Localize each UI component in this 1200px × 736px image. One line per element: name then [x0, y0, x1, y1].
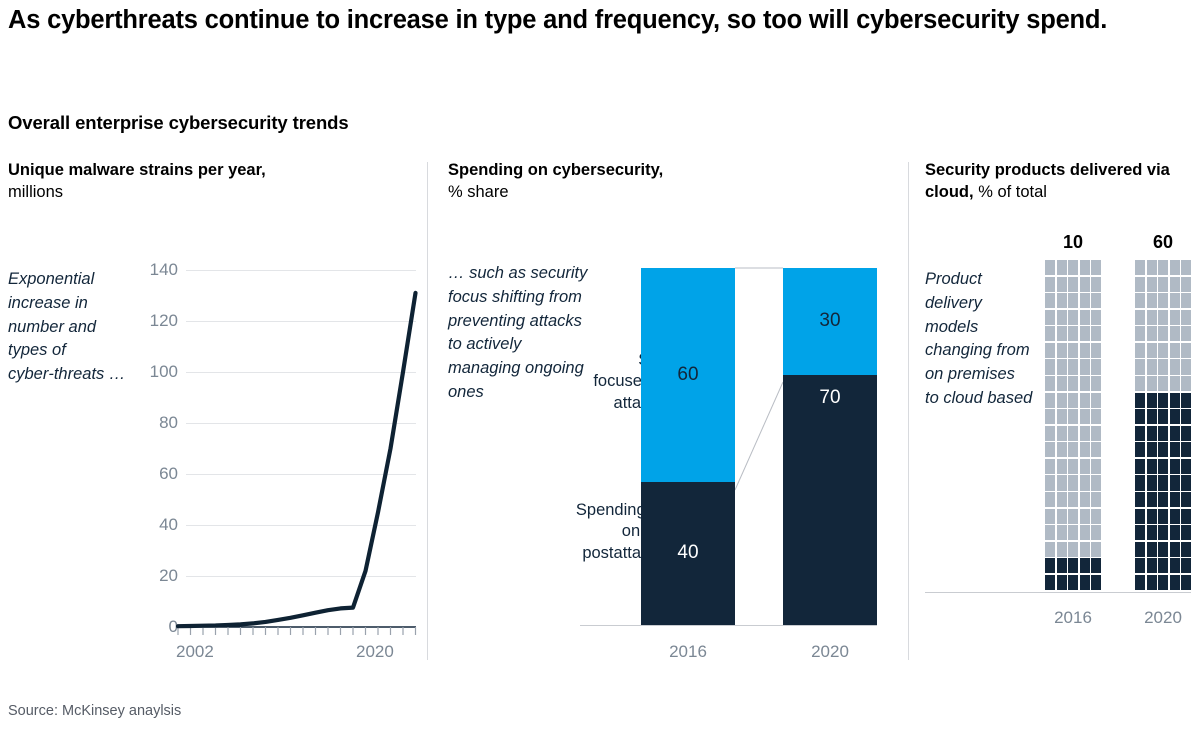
waffle-cell: [1068, 542, 1078, 557]
waffle-cell: [1170, 525, 1180, 540]
waffle-cell: [1135, 393, 1145, 408]
waffle-cell: [1147, 393, 1157, 408]
waffle-cell: [1158, 293, 1168, 308]
waffle-cell: [1181, 343, 1191, 358]
waffle-cell: [1057, 376, 1067, 391]
waffle-cell: [1057, 293, 1067, 308]
waffle-cell: [1057, 310, 1067, 325]
waffle-cell: [1068, 260, 1078, 275]
waffle-cell: [1170, 509, 1180, 524]
waffle-cell: [1057, 393, 1067, 408]
waffle-cell: [1080, 492, 1090, 507]
waffle-cell: [1068, 310, 1078, 325]
waffle-cell: [1080, 509, 1090, 524]
waffle-cell: [1158, 575, 1168, 590]
waffle-cell: [1068, 393, 1078, 408]
waffle-cell: [1135, 409, 1145, 424]
panel-divider-2: [908, 162, 909, 660]
bar-2020-upper-value: 30: [783, 310, 877, 332]
waffle-cell: [1080, 426, 1090, 441]
waffle-cell: [1068, 409, 1078, 424]
waffle-cell: [1045, 409, 1055, 424]
waffle-cell: [1170, 277, 1180, 292]
waffle-cell: [1091, 509, 1101, 524]
waffle-cell: [1045, 426, 1055, 441]
waffle-cell: [1181, 459, 1191, 474]
bar-chart-baseline: [580, 625, 877, 626]
waffle-cell: [1147, 492, 1157, 507]
waffle-cell: [1068, 277, 1078, 292]
waffle-category-2016: 2016: [1037, 608, 1109, 628]
waffle-cell: [1080, 343, 1090, 358]
waffle-cell: [1057, 426, 1067, 441]
bar-2016-upper-value: 60: [641, 364, 735, 386]
waffle-cell: [1080, 542, 1090, 557]
waffle-cell: [1158, 426, 1168, 441]
waffle-cell: [1057, 442, 1067, 457]
waffle-cell: [1135, 575, 1145, 590]
waffle-cell: [1080, 475, 1090, 490]
waffle-cell: [1068, 509, 1078, 524]
waffle-cell: [1135, 376, 1145, 391]
panel-1-title-unit: millions: [8, 183, 63, 201]
waffle-cell: [1147, 260, 1157, 275]
waffle-cell: [1045, 575, 1055, 590]
waffle-cell: [1057, 459, 1067, 474]
waffle-cell: [1091, 260, 1101, 275]
waffle-cell: [1170, 393, 1180, 408]
waffle-cell: [1158, 409, 1168, 424]
waffle-cell: [1135, 509, 1145, 524]
waffle-cell: [1147, 426, 1157, 441]
waffle-cell: [1170, 409, 1180, 424]
waffle-cell: [1170, 426, 1180, 441]
waffle-cell: [1158, 525, 1168, 540]
waffle-cell: [1045, 459, 1055, 474]
waffle-cell: [1158, 542, 1168, 557]
waffle-chart: 10 60 2016 2020: [925, 232, 1200, 660]
waffle-cell: [1135, 260, 1145, 275]
waffle-cell: [1135, 558, 1145, 573]
panel-cloud-delivery: Security products delivered via cloud, %…: [925, 160, 1200, 660]
waffle-cell: [1045, 260, 1055, 275]
waffle-total-2016: 10: [1045, 232, 1101, 253]
waffle-cell: [1068, 558, 1078, 573]
panel-3-title-bold: Security products delivered via cloud,: [925, 161, 1170, 201]
waffle-cell: [1170, 326, 1180, 341]
waffle-cell: [1181, 475, 1191, 490]
waffle-cell: [1091, 426, 1101, 441]
waffle-cell: [1080, 558, 1090, 573]
waffle-cell: [1057, 492, 1067, 507]
waffle-cell: [1057, 343, 1067, 358]
waffle-cell: [1091, 393, 1101, 408]
waffle-cell: [1181, 542, 1191, 557]
waffle-cell: [1147, 475, 1157, 490]
waffle-cell: [1147, 509, 1157, 524]
waffle-cell: [1091, 558, 1101, 573]
waffle-cell: [1091, 359, 1101, 374]
bar-category-2016: 2016: [641, 642, 735, 662]
waffle-cell: [1158, 558, 1168, 573]
waffle-cell: [1045, 492, 1055, 507]
waffle-cell: [1057, 525, 1067, 540]
bar-2016-upper-segment: 60: [641, 268, 735, 482]
waffle-cell: [1135, 475, 1145, 490]
waffle-cell: [1158, 376, 1168, 391]
waffle-cell: [1181, 310, 1191, 325]
waffle-cell: [1135, 293, 1145, 308]
waffle-baseline: [925, 592, 1191, 593]
waffle-cell: [1057, 575, 1067, 590]
waffle-cell: [1091, 442, 1101, 457]
waffle-cell: [1181, 442, 1191, 457]
waffle-cell: [1147, 376, 1157, 391]
waffle-cell: [1068, 459, 1078, 474]
line-chart: 140 120 100 80 60 40 20 0: [138, 260, 418, 660]
waffle-cell: [1181, 260, 1191, 275]
waffle-cell: [1080, 393, 1090, 408]
waffle-cell: [1068, 492, 1078, 507]
waffle-cell: [1181, 393, 1191, 408]
waffle-cell: [1068, 575, 1078, 590]
panel-malware-strains: Unique malware strains per year, million…: [8, 160, 418, 660]
waffle-cell: [1147, 558, 1157, 573]
waffle-cell: [1147, 293, 1157, 308]
waffle-cell: [1080, 326, 1090, 341]
waffle-cell: [1091, 376, 1101, 391]
waffle-cell: [1091, 459, 1101, 474]
waffle-cell: [1170, 293, 1180, 308]
waffle-cell: [1045, 277, 1055, 292]
waffle-grid-2016: [1045, 260, 1101, 590]
waffle-cell: [1057, 359, 1067, 374]
page-title: As cyberthreats continue to increase in …: [8, 4, 1128, 38]
waffle-cell: [1135, 326, 1145, 341]
waffle-cell: [1170, 459, 1180, 474]
waffle-cell: [1170, 558, 1180, 573]
waffle-cell: [1135, 277, 1145, 292]
waffle-cell: [1080, 442, 1090, 457]
waffle-cell: [1080, 310, 1090, 325]
x-label-2002: 2002: [176, 642, 214, 662]
source-note: Source: McKinsey anaylsis: [8, 703, 181, 719]
panel-2-title-unit: % share: [448, 183, 509, 201]
waffle-cell: [1170, 492, 1180, 507]
panel-2-title: Spending on cybersecurity, % share: [448, 160, 903, 204]
bar-2016-lower-value: 40: [641, 542, 735, 564]
waffle-cell: [1091, 542, 1101, 557]
waffle-cell: [1068, 359, 1078, 374]
waffle-cell: [1147, 525, 1157, 540]
waffle-cell: [1158, 442, 1168, 457]
bar-2020-upper-segment: 30: [783, 268, 877, 375]
waffle-cell: [1068, 343, 1078, 358]
waffle-cell: [1170, 442, 1180, 457]
waffle-cell: [1057, 409, 1067, 424]
waffle-cell: [1158, 492, 1168, 507]
waffle-cell: [1068, 442, 1078, 457]
waffle-cell: [1181, 525, 1191, 540]
waffle-cell: [1147, 310, 1157, 325]
waffle-cell: [1080, 277, 1090, 292]
waffle-category-2020: 2020: [1127, 608, 1199, 628]
waffle-cell: [1045, 376, 1055, 391]
waffle-cell: [1158, 260, 1168, 275]
waffle-cell: [1135, 359, 1145, 374]
waffle-cell: [1181, 293, 1191, 308]
waffle-cell: [1158, 459, 1168, 474]
waffle-cell: [1170, 359, 1180, 374]
waffle-cell: [1080, 409, 1090, 424]
waffle-cell: [1158, 393, 1168, 408]
waffle-cell: [1181, 277, 1191, 292]
waffle-cell: [1080, 459, 1090, 474]
waffle-cell: [1080, 525, 1090, 540]
waffle-cell: [1181, 558, 1191, 573]
waffle-cell: [1091, 343, 1101, 358]
line-series-svg: [138, 260, 418, 660]
waffle-cell: [1068, 525, 1078, 540]
waffle-cell: [1057, 542, 1067, 557]
waffle-cell: [1057, 260, 1067, 275]
waffle-cell: [1091, 293, 1101, 308]
panel-divider-1: [427, 162, 428, 660]
panel-1-title: Unique malware strains per year, million…: [8, 160, 418, 204]
panel-1-title-bold: Unique malware strains per year,: [8, 161, 266, 179]
waffle-cell: [1080, 260, 1090, 275]
waffle-cell: [1181, 409, 1191, 424]
waffle-cell: [1045, 293, 1055, 308]
waffle-cell: [1147, 459, 1157, 474]
waffle-cell: [1135, 459, 1145, 474]
waffle-cell: [1068, 326, 1078, 341]
waffle-cell: [1170, 475, 1180, 490]
x-label-2020: 2020: [356, 642, 394, 662]
waffle-cell: [1091, 409, 1101, 424]
waffle-cell: [1080, 575, 1090, 590]
waffle-cell: [1091, 277, 1101, 292]
waffle-cell: [1045, 558, 1055, 573]
waffle-cell: [1181, 426, 1191, 441]
waffle-cell: [1045, 326, 1055, 341]
waffle-cell: [1147, 575, 1157, 590]
waffle-cell: [1135, 426, 1145, 441]
waffle-cell: [1091, 326, 1101, 341]
waffle-cell: [1181, 575, 1191, 590]
waffle-cell: [1135, 492, 1145, 507]
waffle-cell: [1147, 542, 1157, 557]
panel-3-title-unit: % of total: [978, 183, 1047, 201]
waffle-cell: [1170, 376, 1180, 391]
page-subtitle: Overall enterprise cybersecurity trends: [8, 112, 349, 134]
panel-1-annotation: Exponential increase in number and types…: [8, 268, 130, 387]
waffle-cell: [1135, 442, 1145, 457]
bar-category-2020: 2020: [783, 642, 877, 662]
waffle-cell: [1068, 293, 1078, 308]
waffle-cell: [1045, 542, 1055, 557]
waffle-cell: [1091, 575, 1101, 590]
waffle-cell: [1045, 310, 1055, 325]
waffle-cell: [1045, 393, 1055, 408]
waffle-cell: [1057, 326, 1067, 341]
waffle-cell: [1080, 376, 1090, 391]
waffle-cell: [1135, 525, 1145, 540]
waffle-cell: [1091, 475, 1101, 490]
waffle-cell: [1091, 310, 1101, 325]
infographic-page: As cyberthreats continue to increase in …: [0, 0, 1200, 736]
waffle-cell: [1045, 475, 1055, 490]
waffle-cell: [1170, 310, 1180, 325]
waffle-cell: [1068, 426, 1078, 441]
panel-spending-share: Spending on cybersecurity, % share … suc…: [448, 160, 903, 660]
waffle-cell: [1158, 277, 1168, 292]
waffle-cell: [1170, 343, 1180, 358]
waffle-cell: [1135, 542, 1145, 557]
waffle-cell: [1158, 326, 1168, 341]
waffle-cell: [1045, 442, 1055, 457]
waffle-cell: [1147, 326, 1157, 341]
waffle-cell: [1057, 475, 1067, 490]
waffle-cell: [1135, 343, 1145, 358]
bar-2020-lower-segment: 70: [783, 375, 877, 625]
waffle-cell: [1068, 376, 1078, 391]
bar-2016-lower-segment: 40: [641, 482, 735, 625]
waffle-cell: [1045, 525, 1055, 540]
waffle-cell: [1147, 277, 1157, 292]
waffle-grid-2020: [1135, 260, 1191, 590]
waffle-total-2020: 60: [1135, 232, 1191, 253]
waffle-cell: [1170, 542, 1180, 557]
waffle-cell: [1158, 475, 1168, 490]
waffle-cell: [1170, 260, 1180, 275]
stacked-bar-chart: Spending focused on pre-attack period Sp…: [448, 260, 903, 660]
panel-2-title-bold: Spending on cybersecurity,: [448, 161, 663, 179]
waffle-cell: [1080, 359, 1090, 374]
waffle-cell: [1080, 293, 1090, 308]
waffle-cell: [1170, 575, 1180, 590]
waffle-cell: [1147, 343, 1157, 358]
waffle-cell: [1135, 310, 1145, 325]
waffle-cell: [1181, 376, 1191, 391]
waffle-cell: [1158, 343, 1168, 358]
waffle-cell: [1147, 442, 1157, 457]
waffle-cell: [1147, 359, 1157, 374]
waffle-cell: [1068, 475, 1078, 490]
waffle-cell: [1057, 558, 1067, 573]
waffle-cell: [1045, 343, 1055, 358]
waffle-cell: [1045, 359, 1055, 374]
bar-2020-lower-value: 70: [783, 387, 877, 409]
panel-3-title: Security products delivered via cloud, %…: [925, 160, 1200, 204]
waffle-cell: [1045, 509, 1055, 524]
waffle-cell: [1091, 492, 1101, 507]
waffle-cell: [1158, 509, 1168, 524]
waffle-cell: [1091, 525, 1101, 540]
waffle-cell: [1181, 326, 1191, 341]
waffle-cell: [1181, 359, 1191, 374]
waffle-cell: [1158, 359, 1168, 374]
waffle-cell: [1057, 509, 1067, 524]
waffle-cell: [1181, 492, 1191, 507]
waffle-cell: [1147, 409, 1157, 424]
waffle-cell: [1158, 310, 1168, 325]
waffle-cell: [1181, 509, 1191, 524]
waffle-cell: [1057, 277, 1067, 292]
